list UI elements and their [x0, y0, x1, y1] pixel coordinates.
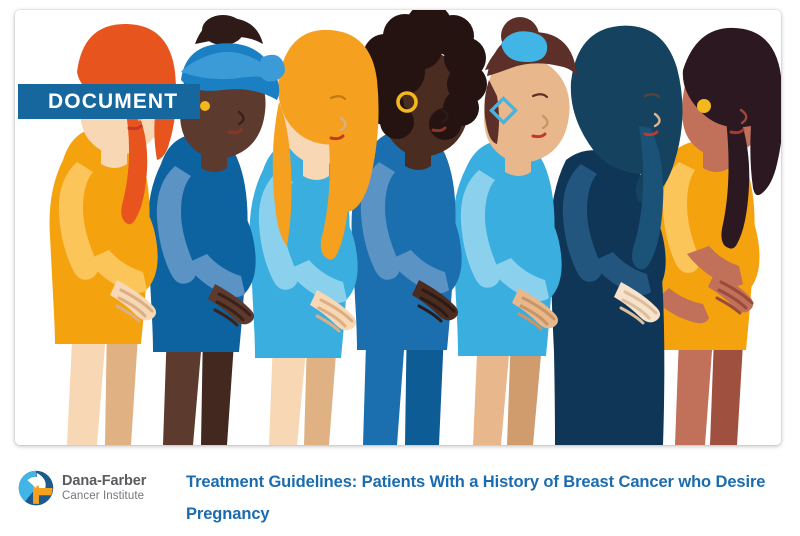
document-type-badge: DOCUMENT: [18, 84, 200, 119]
pregnant-women-illustration: [15, 10, 781, 445]
document-preview-page: DOCUMENT Dana-Farber Cancer Institute Tr…: [0, 0, 800, 536]
dana-farber-mark-icon: [18, 470, 54, 506]
document-title[interactable]: Treatment Guidelines: Patients With a Hi…: [186, 466, 786, 530]
brand-name: Dana-Farber: [62, 474, 146, 489]
document-thumbnail-card[interactable]: DOCUMENT: [15, 10, 781, 445]
brand-subtitle: Cancer Institute: [62, 491, 146, 503]
document-footer: Dana-Farber Cancer Institute Treatment G…: [0, 452, 800, 536]
brand-wordmark: Dana-Farber Cancer Institute: [62, 474, 146, 502]
dana-farber-logo: Dana-Farber Cancer Institute: [18, 470, 146, 506]
